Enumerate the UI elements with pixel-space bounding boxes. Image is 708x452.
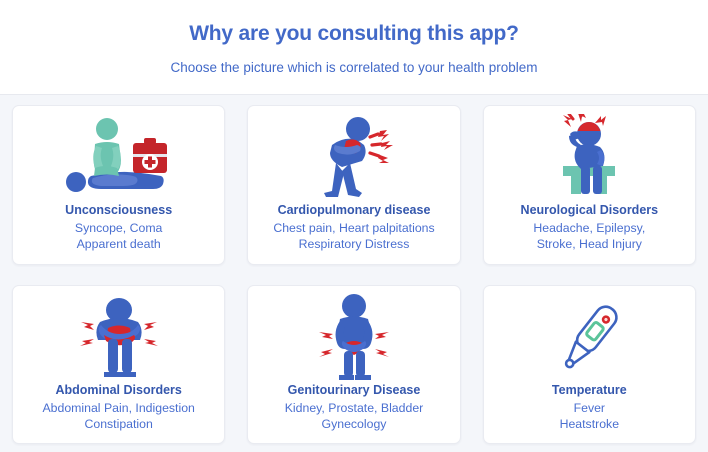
card-subtitle-line-1: Syncope, Coma	[19, 220, 218, 236]
category-card-abdominal-disorders[interactable]: Abdominal Disorders Abdominal Pain, Indi…	[12, 285, 225, 445]
health-problem-selector-screen: Why are you consulting this app? Choose …	[0, 0, 708, 452]
card-text: Abdominal Disorders Abdominal Pain, Indi…	[19, 382, 218, 432]
card-subtitle-line-2: Stroke, Head Injury	[490, 236, 689, 252]
cpr-icon	[19, 114, 218, 202]
category-card-unconsciousness[interactable]: Unconsciousness Syncope, Coma Apparent d…	[12, 105, 225, 265]
category-grid: Unconsciousness Syncope, Coma Apparent d…	[0, 95, 708, 452]
category-card-temperature[interactable]: Temperature Fever Heatstroke	[483, 285, 696, 445]
card-subtitle-line-2: Heatstroke	[490, 416, 689, 432]
card-text: Cardiopulmonary disease Chest pain, Hear…	[254, 202, 453, 252]
category-card-neurological-disorders[interactable]: Neurological Disorders Headache, Epileps…	[483, 105, 696, 265]
page-title: Why are you consulting this app?	[10, 22, 698, 46]
card-title: Genitourinary Disease	[254, 382, 453, 399]
card-text: Neurological Disorders Headache, Epileps…	[490, 202, 689, 252]
category-card-cardiopulmonary-disease[interactable]: Cardiopulmonary disease Chest pain, Hear…	[247, 105, 460, 265]
card-subtitle-line-1: Abdominal Pain, Indigestion	[19, 400, 218, 416]
card-title: Abdominal Disorders	[19, 382, 218, 399]
card-subtitle-line-2: Gynecology	[254, 416, 453, 432]
abdominal-pain-icon	[19, 294, 218, 382]
header: Why are you consulting this app? Choose …	[0, 0, 708, 95]
card-text: Genitourinary Disease Kidney, Prostate, …	[254, 382, 453, 432]
category-card-genitourinary-disease[interactable]: Genitourinary Disease Kidney, Prostate, …	[247, 285, 460, 445]
card-title: Cardiopulmonary disease	[254, 202, 453, 219]
card-text: Temperature Fever Heatstroke	[490, 382, 689, 432]
card-title: Neurological Disorders	[490, 202, 689, 219]
chest-pain-icon	[254, 114, 453, 202]
card-subtitle-line-1: Headache, Epilepsy,	[490, 220, 689, 236]
card-subtitle-line-1: Kidney, Prostate, Bladder	[254, 400, 453, 416]
card-subtitle-line-2: Respiratory Distress	[254, 236, 453, 252]
card-subtitle-line-1: Fever	[490, 400, 689, 416]
card-subtitle-line-1: Chest pain, Heart palpitations	[254, 220, 453, 236]
card-text: Unconsciousness Syncope, Coma Apparent d…	[19, 202, 218, 252]
card-subtitle-line-2: Constipation	[19, 416, 218, 432]
pelvic-pain-icon	[254, 294, 453, 382]
card-title: Temperature	[490, 382, 689, 399]
page-subtitle: Choose the picture which is correlated t…	[10, 60, 698, 76]
thermometer-icon	[490, 294, 689, 382]
headache-icon	[490, 114, 689, 202]
card-subtitle-line-2: Apparent death	[19, 236, 218, 252]
card-title: Unconsciousness	[19, 202, 218, 219]
